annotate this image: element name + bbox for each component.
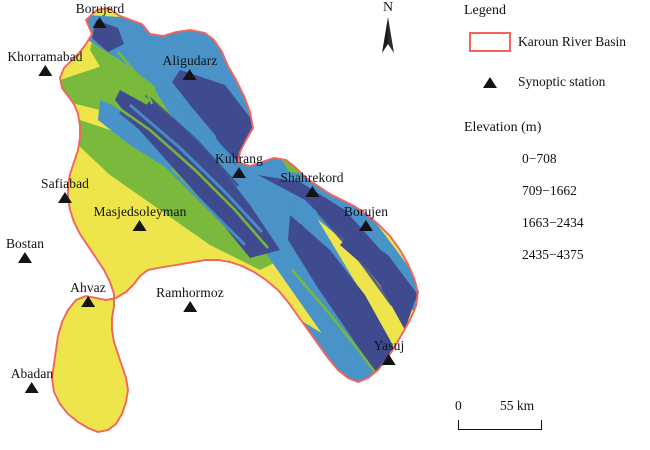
north-arrow-icon [377,15,399,55]
synoptic-station-icon [483,77,497,88]
legend-title: Legend [464,3,650,19]
station-swatch-key [462,77,518,88]
elevation-class-label-3: 2435−4375 [518,247,584,263]
elevation-class-row: 1663−2434 [462,207,650,239]
karoun-basin-map [0,0,450,450]
elevation-raster [0,0,450,450]
elevation-class-label-2: 1663−2434 [518,215,584,231]
basin-outline-swatch [469,32,511,52]
elevation-class-row: 0−708 [462,143,650,175]
elevation-class-label-0: 0−708 [518,151,557,167]
scale-bar-labels: 0 55 km [455,398,595,416]
scale-bar-ruler [458,420,542,430]
scale-bar: 0 55 km [455,398,595,442]
north-arrow: N [372,2,404,54]
legend-item-station: Synoptic station [462,67,650,97]
elevation-class-row: 709−1662 [462,175,650,207]
legend-panel: Legend Karoun River Basin Synoptic stati… [462,0,650,97]
elevation-class-row: 2435−4375 [462,239,650,271]
map-canvas[interactable]: Borujerd Khorramabad Aligudarz Kuhrang S… [0,0,450,450]
elevation-legend-title: Elevation (m) [464,120,650,136]
north-arrow-label: N [372,2,404,14]
elevation-class-label-1: 709−1662 [518,183,577,199]
map-figure: Borujerd Khorramabad Aligudarz Kuhrang S… [0,0,650,450]
scale-zero-label: 0 [455,398,462,414]
scale-max-label: 55 km [500,398,534,414]
legend-basin-label: Karoun River Basin [518,34,626,50]
legend-item-basin: Karoun River Basin [462,27,650,57]
legend-station-label: Synoptic station [518,74,605,90]
basin-swatch-key [462,32,518,52]
elevation-legend: Elevation (m) 0−708 709−1662 1663−2434 2… [462,120,650,271]
